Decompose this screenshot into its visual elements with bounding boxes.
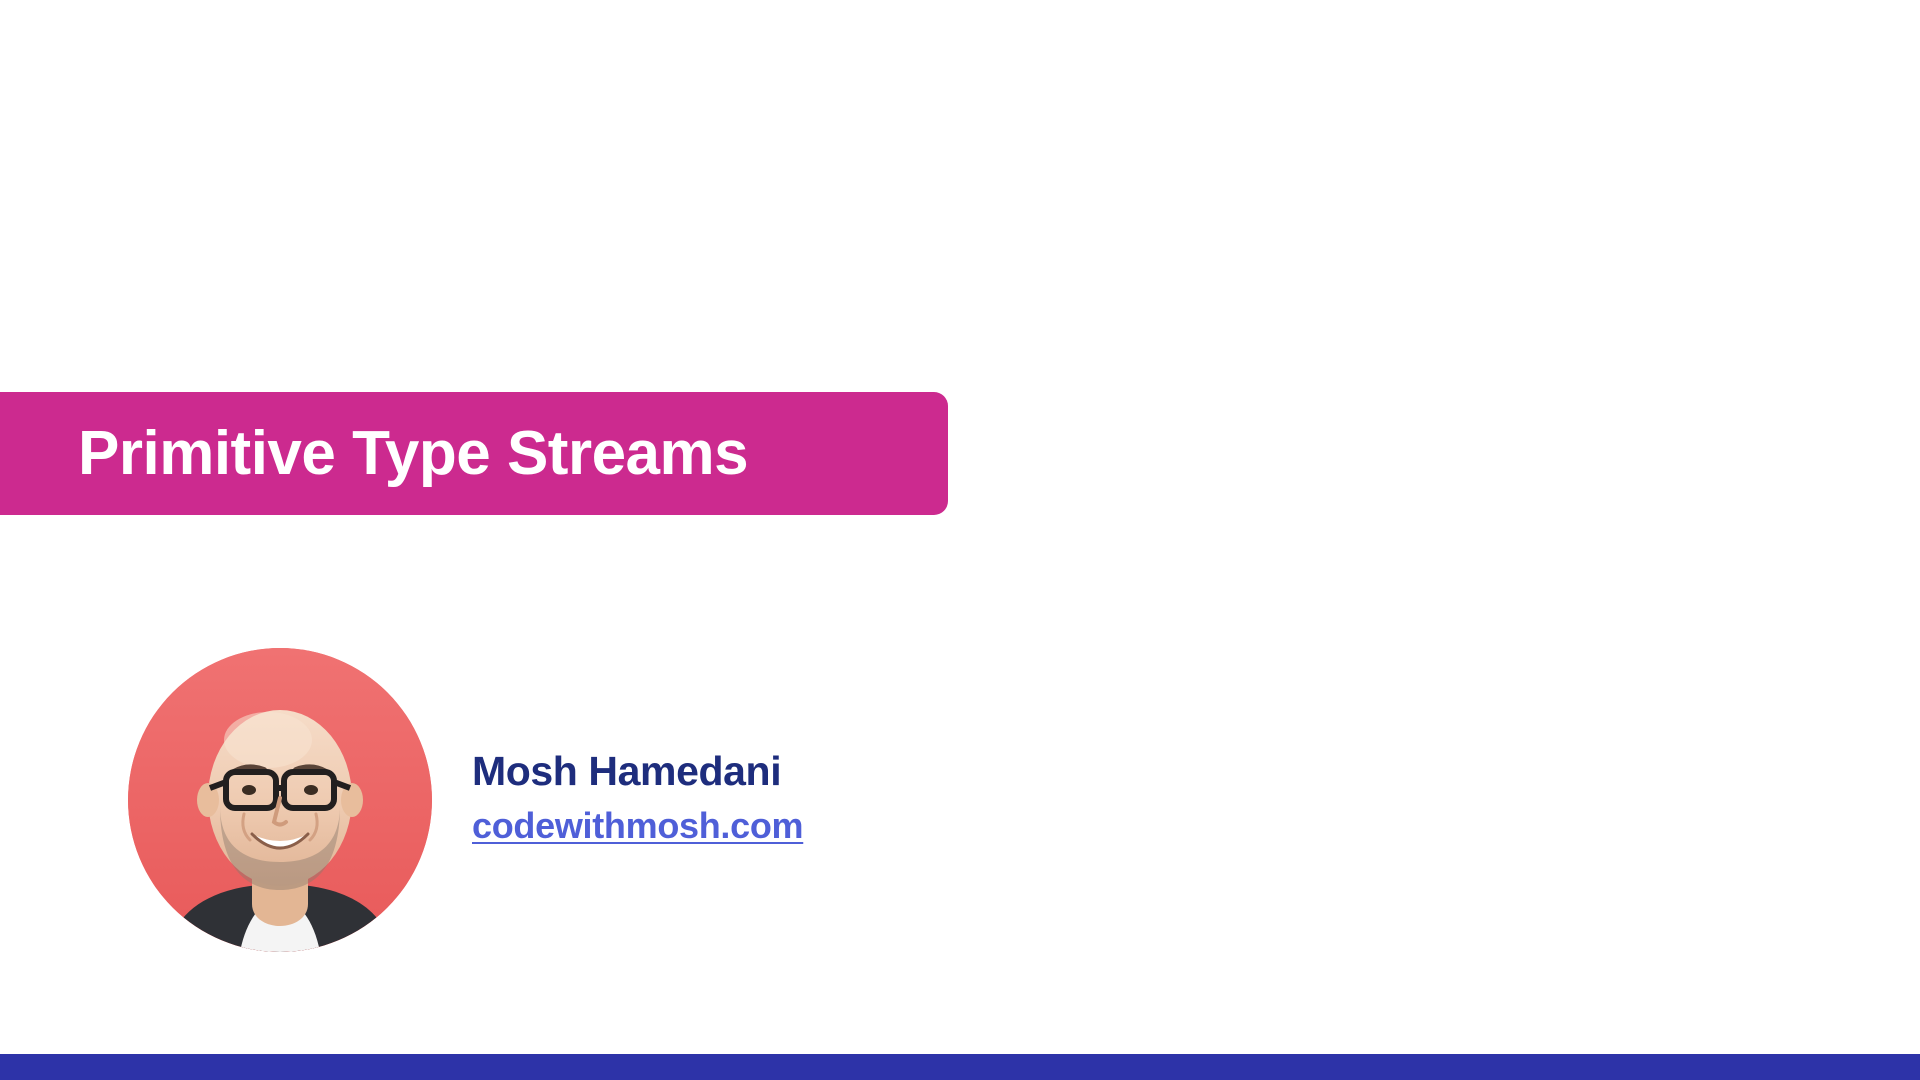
title-banner: Primitive Type Streams — [0, 392, 948, 515]
author-text: Mosh Hamedani codewithmosh.com — [472, 748, 803, 853]
bottom-accent-bar — [0, 1054, 1920, 1080]
author-name: Mosh Hamedani — [472, 748, 803, 795]
avatar-portrait-image — [128, 648, 432, 952]
avatar — [128, 648, 432, 952]
author-website-link[interactable]: codewithmosh.com — [472, 805, 803, 846]
presentation-slide: Primitive Type Streams — [0, 0, 1920, 1080]
slide-title: Primitive Type Streams — [78, 423, 748, 485]
author-block: Mosh Hamedani codewithmosh.com — [128, 648, 803, 952]
